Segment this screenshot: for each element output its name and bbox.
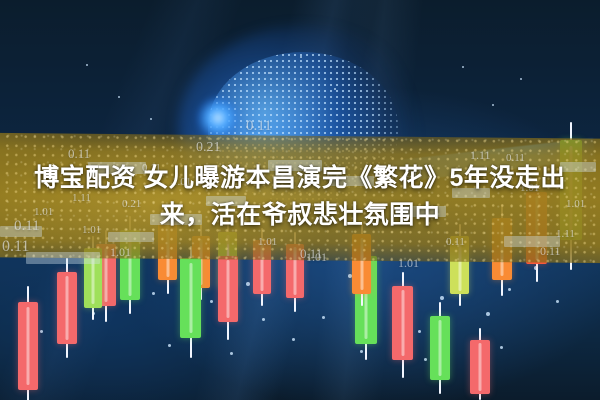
ticker-number: 1.01 [306,250,327,265]
ticker-number: 0.11 [540,244,561,259]
banner-image: 0.111.010.110.111.111.011.010.210.210.11… [0,0,600,400]
ticker-number: 0.11 [246,118,272,135]
headline-line-2: 来，活在爷叔悲壮氛围中 [14,197,586,234]
ticker-bar [26,252,100,264]
headline-line-1: 博宝配资 女儿曝游本昌演完《繁花》5年没走出 [14,160,586,197]
ticker-number: 1.01 [110,245,131,260]
ticker-number: 0.21 [196,140,221,156]
ticker-number: 1.01 [258,236,277,248]
ticker-number: 1.01 [398,256,419,271]
page-title: 博宝配资 女儿曝游本昌演完《繁花》5年没走出 来，活在爷叔悲壮氛围中 [0,160,600,234]
ticker-number: 0.11 [2,238,29,256]
ticker-number: 0.11 [446,236,465,248]
